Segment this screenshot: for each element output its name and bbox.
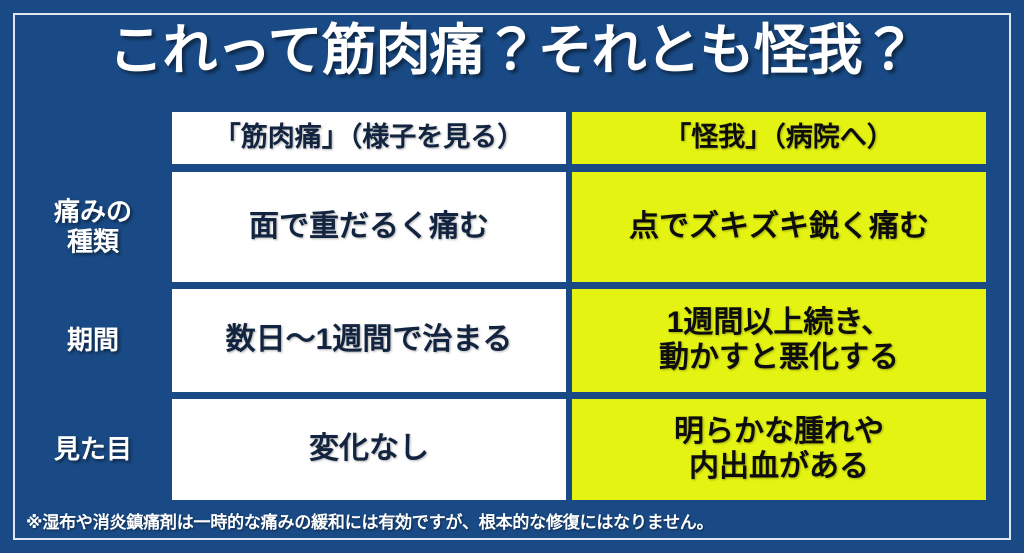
cell-duration-injury: 1週間以上続き、 動かすと悪化する	[572, 289, 986, 392]
cell-pain-type-injury: 点でズキズキ鋭く痛む	[572, 172, 986, 282]
cell-pain-type-muscle-soreness: 面で重だるく痛む	[172, 172, 566, 282]
row-label-duration: 期間	[14, 326, 172, 356]
cell-appearance-injury: 明らかな腫れや 内出血がある	[572, 399, 986, 500]
table-row: 痛みの 種類 面で重だるく痛む 点でズキズキ鋭く痛む	[14, 172, 1010, 282]
column-header-injury: 「怪我」（病院へ）	[572, 112, 986, 164]
footnote-text: ※湿布や消炎鎮痛剤は一時的な痛みの緩和には有効ですが、根本的な修復にはなりません…	[26, 508, 713, 533]
row-label-appearance: 見た目	[14, 435, 172, 465]
row-label-pain-type: 痛みの 種類	[14, 197, 172, 256]
table-row: 期間 数日〜1週間で治まる 1週間以上続き、 動かすと悪化する	[14, 289, 1010, 392]
comparison-table: 「筋肉痛」（様子を見る） 「怪我」（病院へ） 痛みの 種類 面で重だるく痛む 点…	[14, 112, 1010, 500]
infographic-canvas: これって筋肉痛？それとも怪我？ 「筋肉痛」（様子を見る） 「怪我」（病院へ） 痛…	[0, 0, 1024, 553]
cell-appearance-muscle-soreness: 変化なし	[172, 399, 566, 500]
page-title: これって筋肉痛？それとも怪我？	[0, 22, 1024, 80]
table-header-row: 「筋肉痛」（様子を見る） 「怪我」（病院へ）	[14, 112, 1010, 164]
table-row: 見た目 変化なし 明らかな腫れや 内出血がある	[14, 399, 1010, 500]
column-header-muscle-soreness: 「筋肉痛」（様子を見る）	[172, 112, 566, 164]
cell-duration-muscle-soreness: 数日〜1週間で治まる	[172, 289, 566, 392]
